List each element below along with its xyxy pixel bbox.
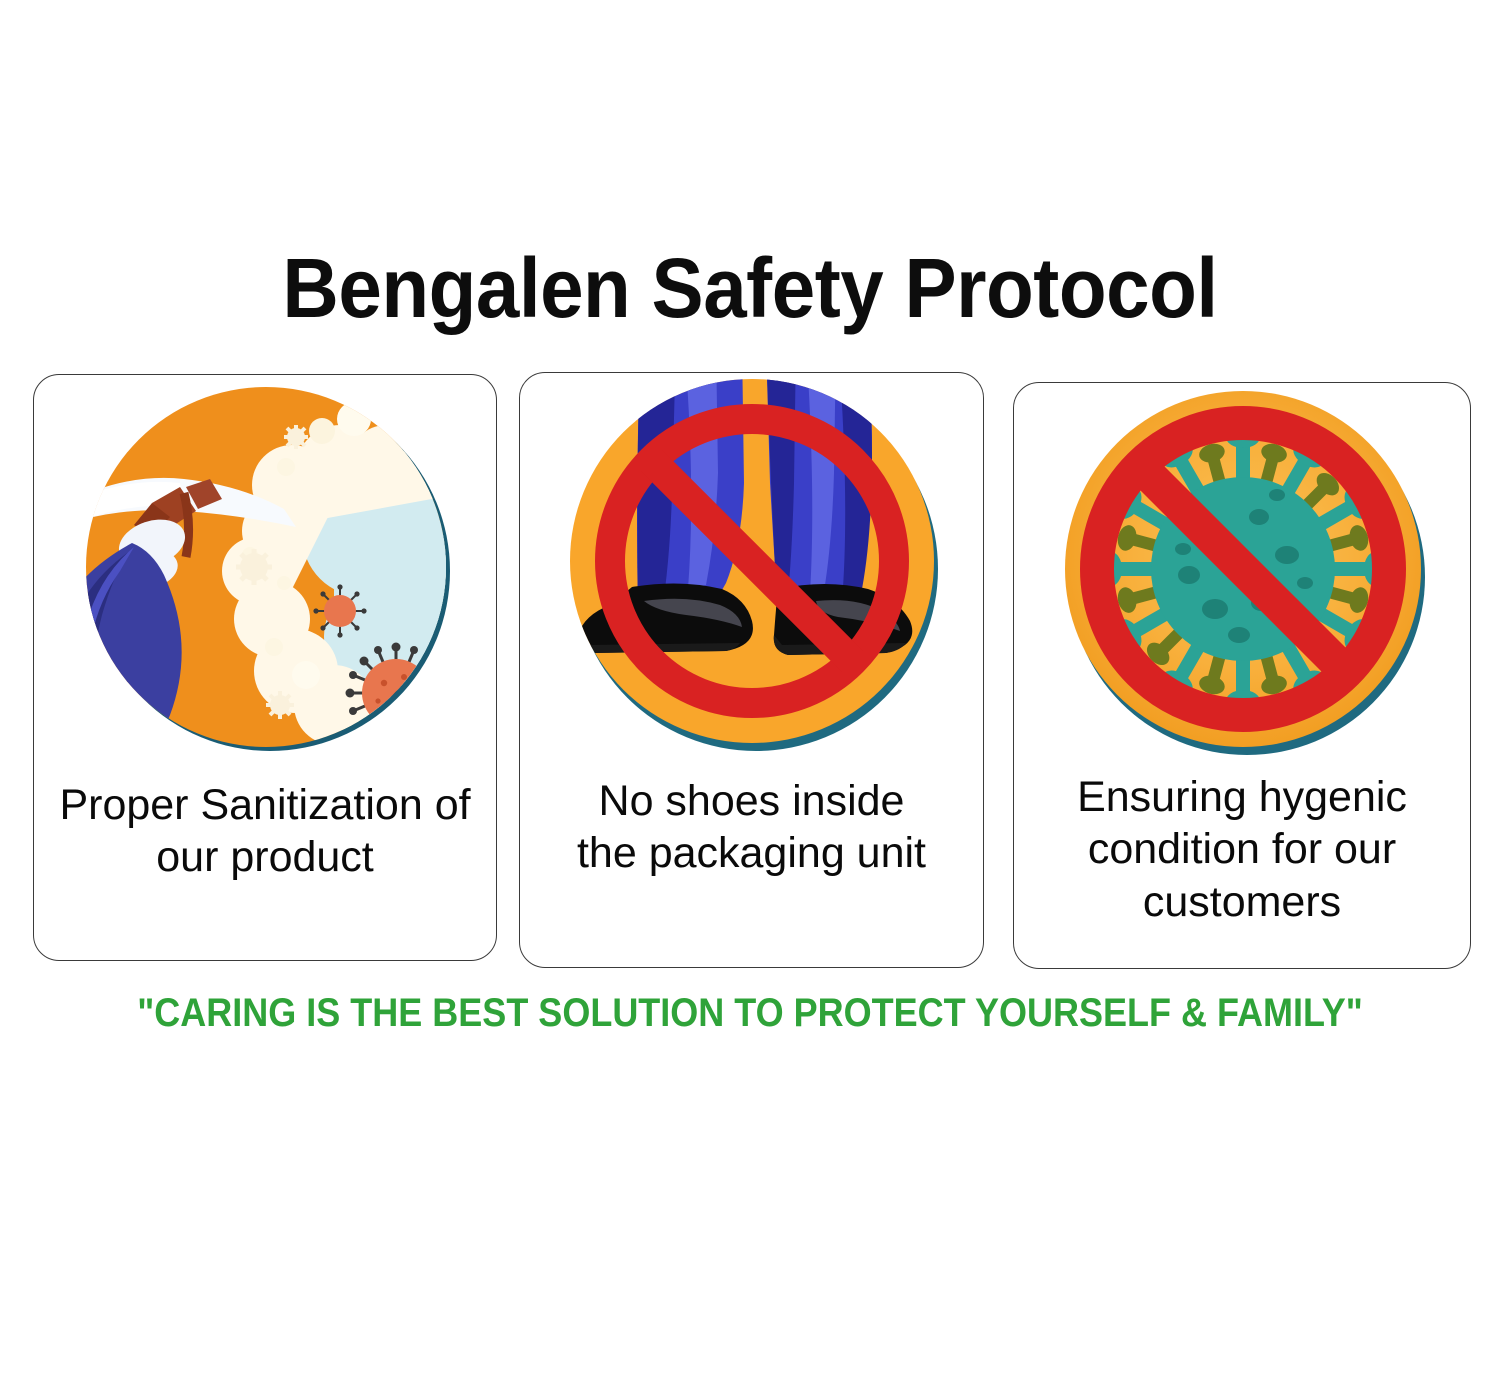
- no-shoes-illustration: [520, 373, 983, 773]
- protocol-card-sanitization: Proper Sanitization of our product: [33, 374, 497, 961]
- spray-bottle: [48, 543, 182, 757]
- card-caption-no-shoes: No shoes inside the packaging unit: [520, 775, 983, 880]
- no-shoes-prohibition-icon: [520, 373, 985, 773]
- hygienic-illustration: [1014, 383, 1470, 783]
- card-caption-sanitization: Proper Sanitization of our product: [34, 779, 496, 884]
- protocol-card-hygienic: Ensuring hygenic condition for our custo…: [1013, 382, 1471, 969]
- page-title: Bengalen Safety Protocol: [53, 246, 1448, 330]
- protocol-card-no-shoes: No shoes inside the packaging unit: [519, 372, 984, 968]
- card-caption-hygienic: Ensuring hygenic condition for our custo…: [1014, 771, 1470, 928]
- spray-bottle-disinfecting-viruses-icon: [34, 375, 498, 775]
- no-virus-prohibition-icon: [1014, 383, 1472, 783]
- sanitization-illustration: [34, 375, 496, 775]
- tagline: "CARING IS THE BEST SOLUTION TO PROTECT …: [75, 993, 1425, 1033]
